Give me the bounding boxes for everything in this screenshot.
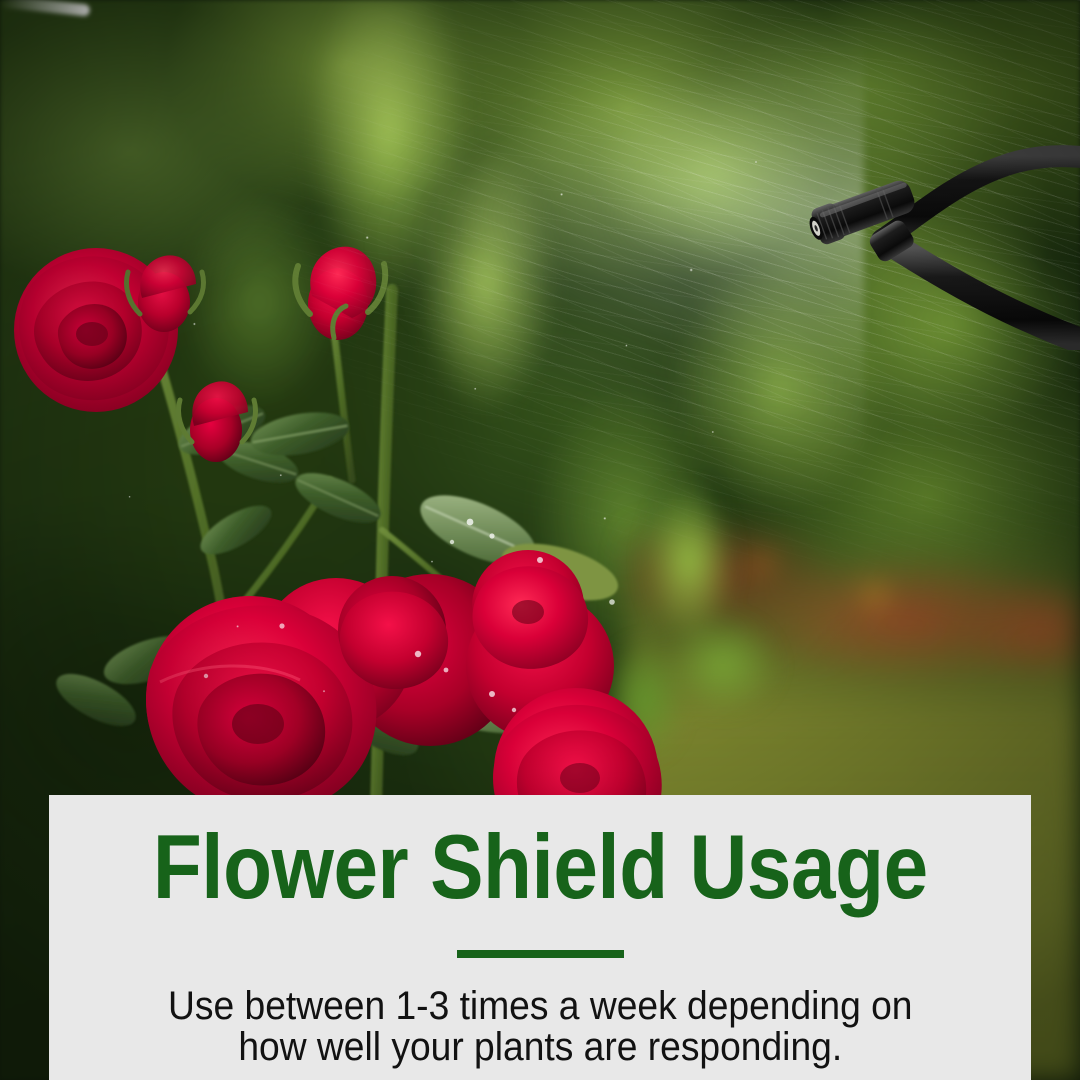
title-divider [457, 950, 624, 958]
page-title: Flower Shield Usage [153, 822, 928, 913]
caption-card: Flower Shield Usage Use between 1-3 time… [49, 795, 1031, 1080]
card-subtitle: Use between 1-3 times a week depending o… [168, 986, 912, 1068]
